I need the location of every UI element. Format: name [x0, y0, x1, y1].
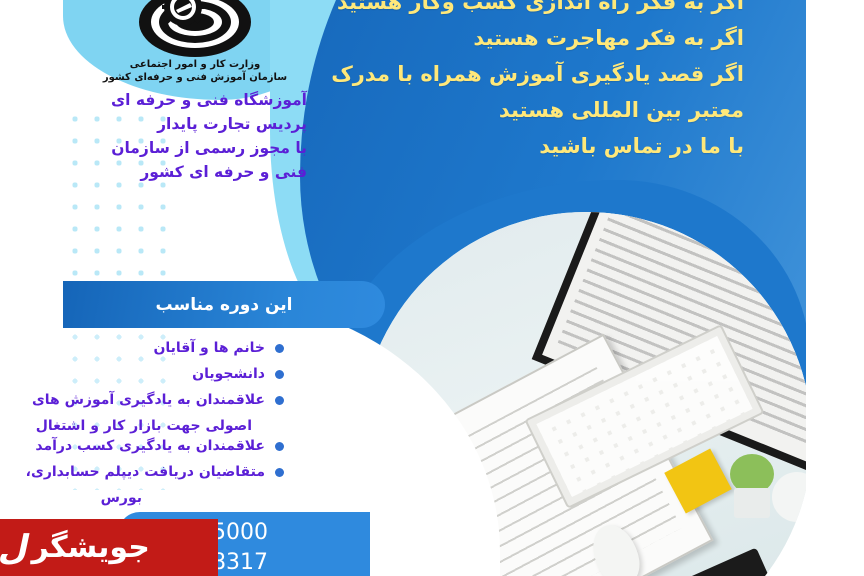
filled-circle-bullet-icon: [275, 396, 284, 405]
headline-line-2: اگر به فکر مهاجرت هستید: [184, 20, 744, 56]
headline-line-4: معتبر بین المللی هستید: [184, 92, 744, 128]
headline-line-1: اگر به فکر راه اندازی کسب وکار هستید: [184, 0, 744, 20]
list-item-label: دانشجویان: [192, 364, 265, 384]
headline-line-3: اگر قصد یادگیری آموزش همراه با مدرک: [184, 56, 744, 92]
filled-circle-bullet-icon: [275, 344, 284, 353]
filled-circle-bullet-icon: [275, 468, 284, 477]
list-item-continuation: اصولی جهت بازار کار و اشتغال: [0, 416, 318, 436]
watermark-brand-label: جویشگر: [32, 530, 150, 565]
poster-root: وزارت کار و امور اجتماعی سازمان آموزش فن…: [0, 0, 864, 576]
list-item-label: علاقمندان به یادگیری آموزش های: [32, 390, 265, 410]
audience-bullet-list: خانم ها و آقایان دانشجویان علاقمندان به …: [0, 338, 318, 508]
headline-line-5: با ما در تماس باشید: [184, 128, 744, 164]
poster-stage: وزارت کار و امور اجتماعی سازمان آموزش فن…: [0, 0, 806, 576]
list-item: علاقمندان به یادگیری کسب درآمد: [0, 436, 318, 456]
plant-pot-icon: [734, 488, 770, 518]
course-suitability-label: این دوره مناسب: [155, 295, 292, 315]
list-item-label: متقاضیان دریافت دیپلم حسابداری،: [26, 462, 265, 482]
filled-circle-bullet-icon: [275, 442, 284, 451]
right-white-margin: [806, 0, 864, 576]
headline-block: اگر به فکر راه اندازی کسب وکار هستید اگر…: [184, 0, 744, 164]
list-item: خانم ها و آقایان: [0, 338, 318, 358]
list-item-continuation: بورس: [0, 488, 318, 508]
list-item: دانشجویان: [0, 364, 318, 384]
filled-circle-bullet-icon: [275, 370, 284, 379]
list-item-label: علاقمندان به یادگیری کسب درآمد: [35, 436, 265, 456]
watermark-banner: جویشگر ل: [0, 519, 218, 576]
list-item-label: خانم ها و آقایان: [153, 338, 265, 358]
swoosh-logo-icon: ل: [0, 528, 34, 568]
list-item: متقاضیان دریافت دیپلم حسابداری،: [0, 462, 318, 482]
course-suitability-banner: این دوره مناسب: [63, 281, 385, 328]
list-item: علاقمندان به یادگیری آموزش های: [0, 390, 318, 410]
